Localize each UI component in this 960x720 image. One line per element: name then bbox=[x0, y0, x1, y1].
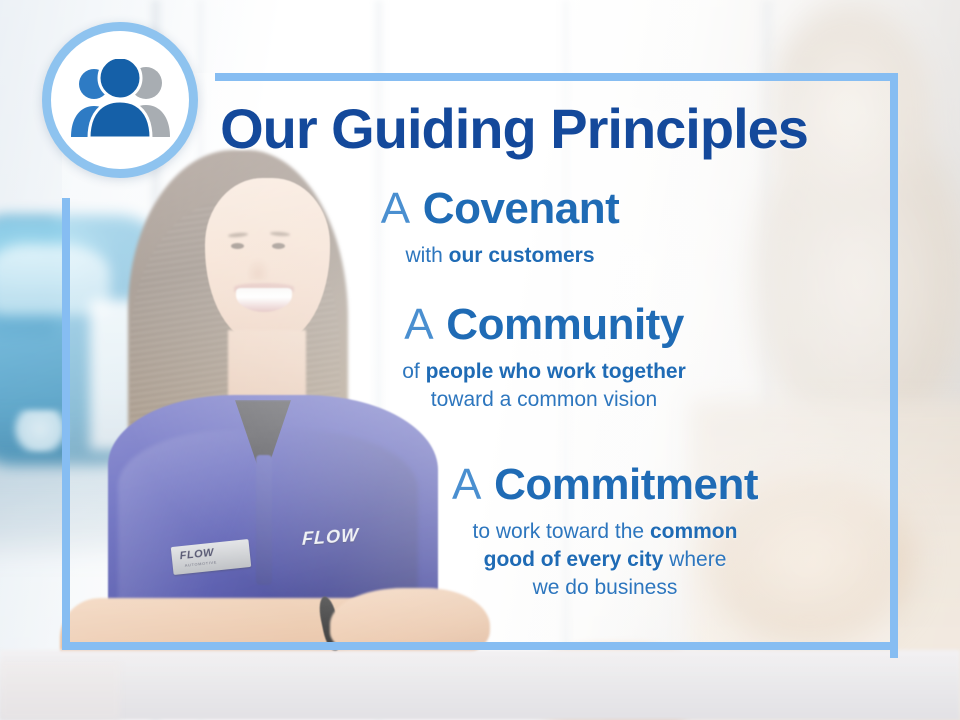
description-line: toward a common vision bbox=[128, 386, 960, 414]
principle-heading: A Community bbox=[128, 302, 960, 348]
text-plain: to work toward the bbox=[473, 520, 650, 543]
principle-lead-article: A bbox=[381, 184, 411, 233]
text-plain: with bbox=[405, 244, 448, 267]
poster-text: Our Guiding Principles A Covenant with o… bbox=[0, 0, 960, 720]
principle-covenant: A Covenant with our customers bbox=[0, 186, 960, 270]
text-plain: we do business bbox=[533, 576, 678, 599]
description-line: to work toward the common bbox=[250, 518, 960, 546]
principle-keyword: Covenant bbox=[423, 184, 619, 233]
text-plain: toward a common vision bbox=[431, 388, 657, 411]
text-emphasis: people who work together bbox=[426, 360, 686, 383]
principle-lead-article: A bbox=[452, 460, 482, 509]
principle-community: A Community of people who work together … bbox=[0, 302, 960, 414]
principle-description: with our customers bbox=[40, 242, 960, 270]
principle-lead-article: A bbox=[404, 300, 434, 349]
text-plain: of bbox=[402, 360, 425, 383]
description-line: we do business bbox=[250, 574, 960, 602]
text-emphasis: common bbox=[650, 520, 738, 543]
description-line: good of every city where bbox=[250, 546, 960, 574]
principle-description: of people who work together toward a com… bbox=[128, 358, 960, 413]
description-line: with our customers bbox=[40, 242, 960, 270]
description-line: of people who work together bbox=[128, 358, 960, 386]
principle-commitment: A Commitment to work toward the common g… bbox=[0, 462, 960, 601]
principle-description: to work toward the common good of every … bbox=[250, 518, 960, 601]
principle-heading: A Commitment bbox=[250, 462, 960, 508]
principle-keyword: Community bbox=[446, 300, 684, 349]
principle-heading: A Covenant bbox=[40, 186, 960, 232]
text-emphasis: good of every city bbox=[484, 548, 664, 571]
principle-keyword: Commitment bbox=[494, 460, 758, 509]
poster-canvas: FLOW FLOW AUTOMOTIVE bbox=[0, 0, 960, 720]
text-plain: where bbox=[663, 548, 726, 571]
page-title: Our Guiding Principles bbox=[0, 96, 960, 161]
text-emphasis: our customers bbox=[449, 244, 595, 267]
